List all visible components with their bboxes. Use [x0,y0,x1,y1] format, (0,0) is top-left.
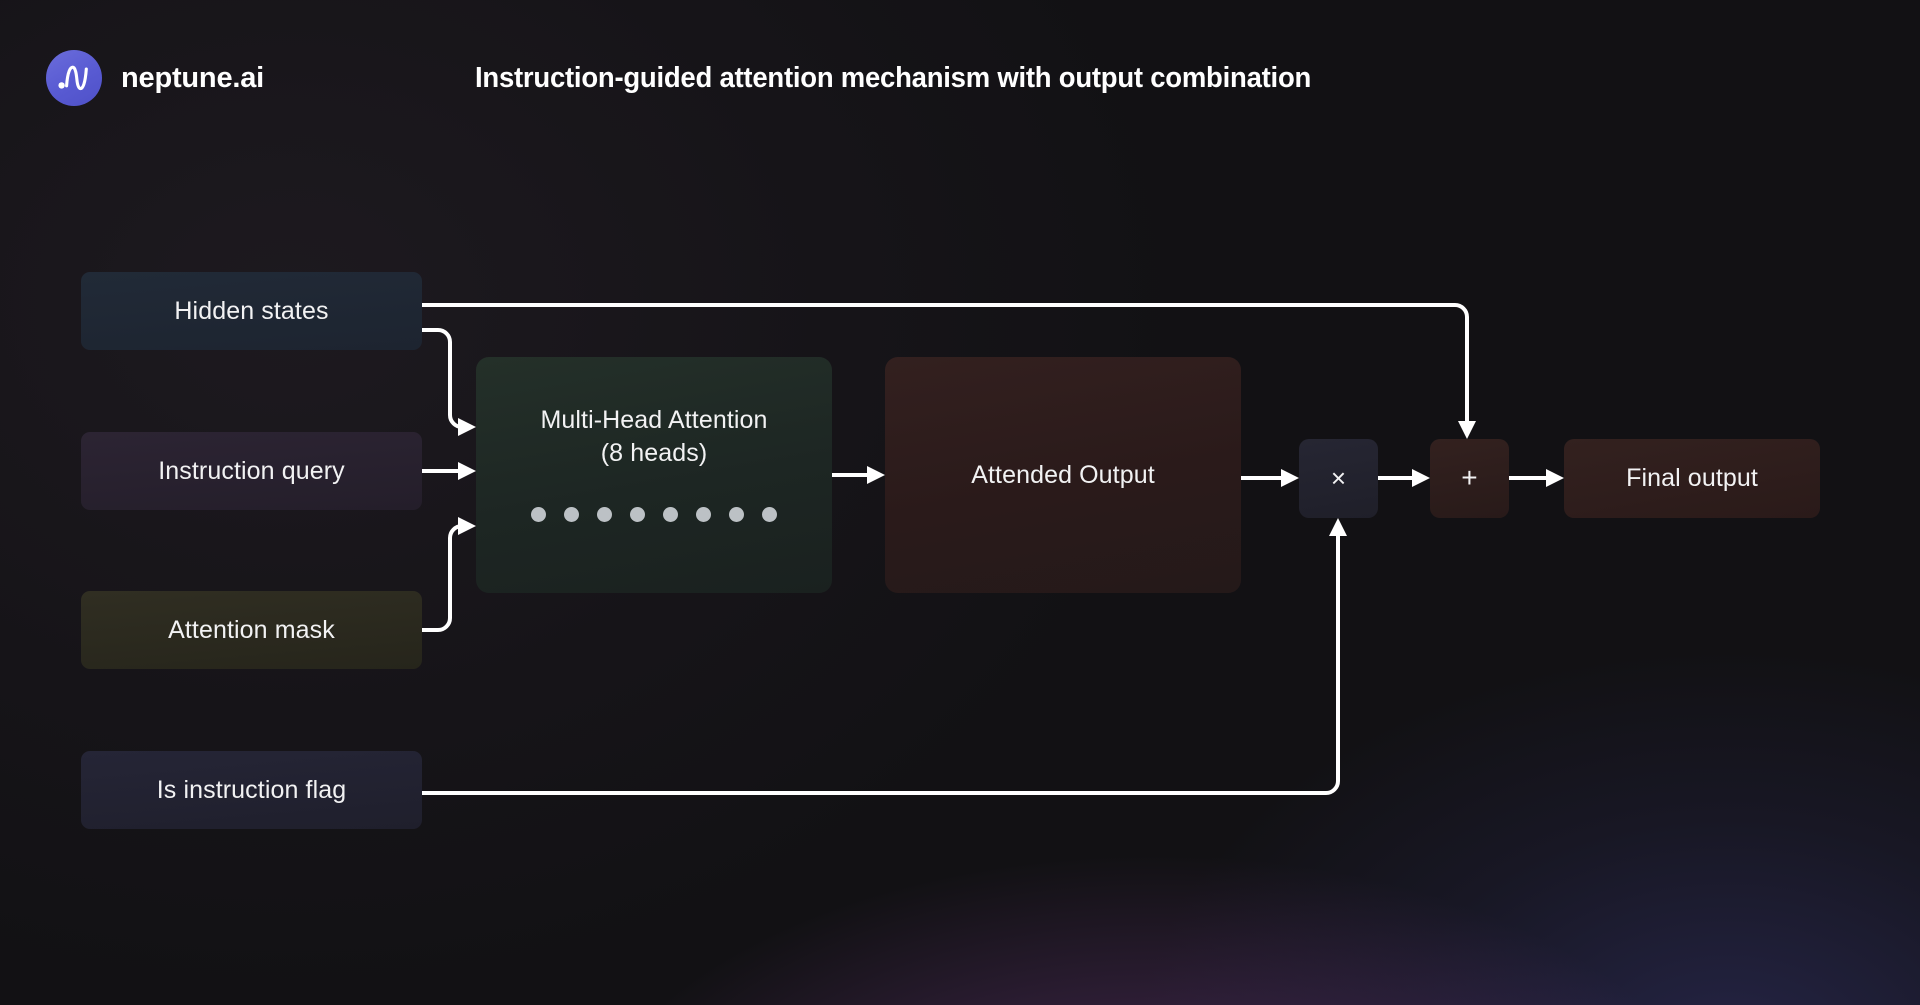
node-attended-output[interactable]: Attended Output [885,357,1241,593]
arrowhead-instruction-query-to-mha [458,462,476,480]
brand-name: neptune.ai [121,62,264,95]
neptune-wave-logo-icon [46,50,102,106]
attention-head-dot [729,507,744,522]
node-attention-mask[interactable]: Attention mask [81,591,422,669]
node-is-instruction-flag[interactable]: Is instruction flag [81,751,422,829]
node-is-instruction-flag-label: Is instruction flag [157,774,347,807]
node-multi-head-attention-label-line2: (8 heads) [601,437,708,470]
node-final-output[interactable]: Final output [1564,439,1820,518]
node-multi-head-attention[interactable]: Multi-Head Attention (8 heads) [476,357,832,593]
node-attention-mask-label: Attention mask [168,614,335,647]
attention-head-dot [762,507,777,522]
brand-logo: neptune.ai [46,50,264,106]
diagram-canvas: neptune.ai Instruction-guided attention … [0,0,1920,1005]
node-multi-head-attention-label-line1: Multi-Head Attention [540,404,767,437]
node-hidden-states[interactable]: Hidden states [81,272,422,350]
attention-head-dot [663,507,678,522]
arrowhead-attention-mask-to-mha [458,517,476,535]
plus-icon: + [1461,460,1477,497]
node-instruction-query[interactable]: Instruction query [81,432,422,510]
arrowhead-attended-output-to-multiply [1281,469,1299,487]
attention-head-dot [564,507,579,522]
attention-head-dot [531,507,546,522]
arrowhead-add-to-final-output [1546,469,1564,487]
arrowhead-multiply-to-add [1412,469,1430,487]
attention-head-dot [630,507,645,522]
attention-head-dot [597,507,612,522]
page-title: Instruction-guided attention mechanism w… [475,62,1311,95]
multiply-icon: × [1331,461,1346,495]
node-instruction-query-label: Instruction query [158,455,345,488]
edge-attention-mask-to-mha [422,526,462,630]
arrowhead-hidden-states-to-add [1458,421,1476,439]
arrowhead-hidden-states-to-mha [458,418,476,436]
arrowhead-is-instruction-flag-to-multiply [1329,518,1347,536]
arrowhead-mha-to-attended-output [867,466,885,484]
attention-heads-indicator [531,507,777,522]
node-hidden-states-label: Hidden states [174,295,328,328]
node-add-operator[interactable]: + [1430,439,1509,518]
node-multiply-operator[interactable]: × [1299,439,1378,518]
node-final-output-label: Final output [1626,462,1758,495]
edge-hidden-states-to-mha [422,330,462,427]
node-attended-output-label: Attended Output [971,459,1155,492]
attention-head-dot [696,507,711,522]
